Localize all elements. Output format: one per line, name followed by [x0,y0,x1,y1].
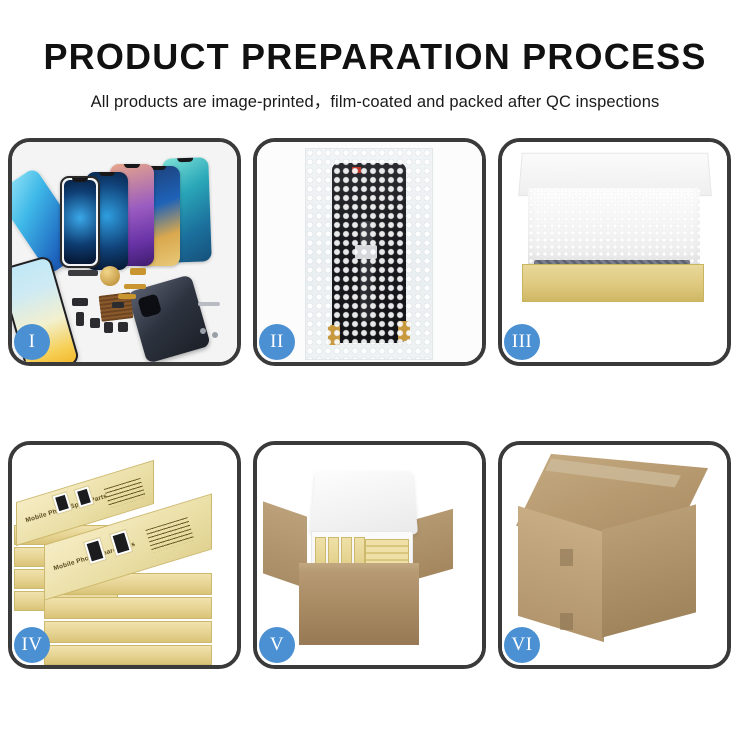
step-image-6 [502,445,727,665]
yellow-box-tray-icon [522,264,704,302]
product-preparation-infographic: PRODUCT PREPARATION PROCESS All products… [0,0,750,750]
screw-tool-icon [198,302,220,306]
step-panel-1[interactable]: I [8,138,241,366]
flex-cable-2-icon [124,284,146,289]
step-badge-1: I [14,324,50,360]
step-badge-6: VI [504,627,540,663]
small-part-3-icon [90,318,100,328]
small-part-1-icon [72,298,88,306]
box-stack-icon: Mobile Phone Spare Parts Mobile Phone Sp… [14,461,237,661]
page-title: PRODUCT PREPARATION PROCESS [0,36,750,78]
page-subtitle: All products are image-printed，film-coat… [0,88,750,112]
step-image-3 [502,142,727,362]
step-badge-4: IV [14,627,50,663]
small-part-5-icon [118,322,128,332]
speaker-module-icon [100,266,120,286]
step-image-1 [12,142,237,362]
step-panel-2[interactable]: II [253,138,486,366]
step-badge-5: V [259,627,295,663]
step-panel-5[interactable]: V [253,441,486,669]
tempered-glass-icon [60,176,100,268]
screw-2-icon [212,332,218,338]
foam-lid-icon [310,471,418,534]
screw-icon [200,328,206,334]
foam-sheet-icon [528,188,700,266]
small-part-6-icon [112,302,124,308]
step-panel-3[interactable]: III [498,138,731,366]
step-image-4: Mobile Phone Spare Parts Mobile Phone Sp… [12,445,237,665]
process-steps-grid: I II [8,138,742,669]
part-strip-icon [68,270,98,276]
step-panel-6[interactable]: VI [498,441,731,669]
step-panel-4[interactable]: Mobile Phone Spare Parts Mobile Phone Sp… [8,441,241,669]
small-part-4-icon [104,322,113,333]
step-badge-2: II [259,324,295,360]
carton-seam-bottom-icon [560,613,573,630]
flex-cable-3-icon [118,294,136,299]
step-image-5 [257,445,482,665]
header: PRODUCT PREPARATION PROCESS All products… [0,0,750,112]
carton-seam-top-icon [560,549,573,566]
flex-cable-icon [130,268,146,275]
step-badge-3: III [504,324,540,360]
carton-body-icon [299,573,419,645]
step-image-2 [257,142,482,362]
bubble-wrap-bag-icon [305,148,433,360]
small-part-2-icon [76,312,84,326]
